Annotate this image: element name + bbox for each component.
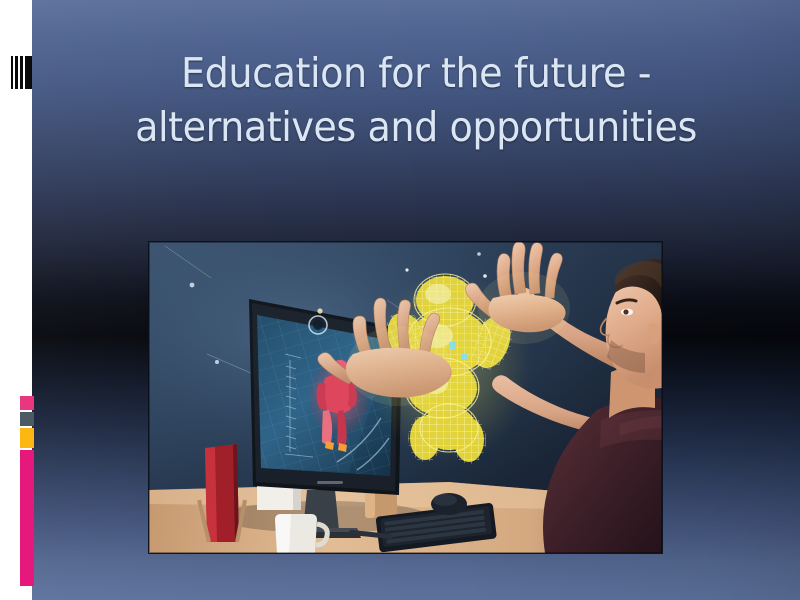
decoration-chip-slate [20,412,34,426]
decoration-chip-yellow [20,428,34,448]
magenta-accent-bar [20,450,34,586]
barcode-icon [11,56,32,89]
presentation-slide: Education for the future - alternatives … [0,0,800,600]
slide-title: Education for the future - alternatives … [59,46,773,154]
decoration-chip-pink [20,396,34,410]
hero-photo [149,242,662,553]
